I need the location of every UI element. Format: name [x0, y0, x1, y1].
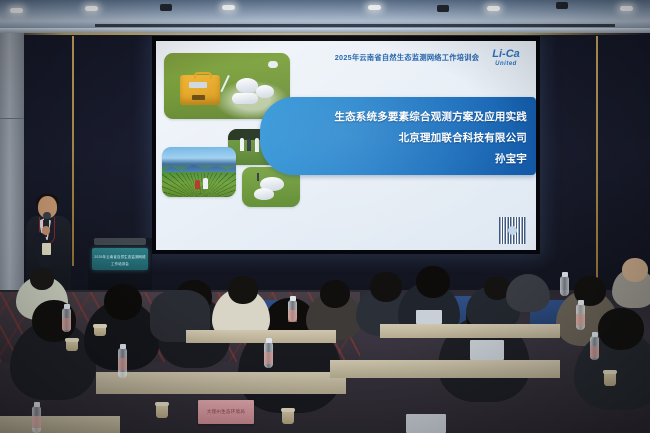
water-bottle	[576, 304, 585, 330]
placard-line-2: 工作培训会	[92, 261, 148, 266]
water-bottle	[288, 300, 297, 322]
audience-person	[506, 274, 550, 312]
laptop	[406, 414, 446, 433]
name-card-text: 大理州生态环境局	[198, 409, 254, 415]
water-bottle	[590, 336, 599, 360]
paper-cup	[156, 404, 168, 418]
bottle-cap	[592, 332, 598, 337]
tripod-leg	[220, 75, 229, 92]
qr-code-icon	[499, 217, 526, 244]
audience-head	[370, 272, 402, 302]
audience-head	[416, 266, 450, 298]
sensor-dome	[236, 78, 258, 93]
bottle-label	[62, 318, 71, 330]
cup-rim	[65, 338, 79, 342]
yellow-case-icon	[180, 75, 220, 105]
sensor-dome	[232, 93, 258, 104]
audience-head	[320, 280, 350, 308]
placard-line-1: 2025年云南省自然生态监测网络	[92, 254, 148, 259]
photo-grassland-with-mountains	[162, 147, 236, 197]
slide-header-title: 2025年云南省自然生态监测网络工作培训会	[304, 53, 510, 63]
audience-head	[228, 276, 258, 304]
sensor-dome	[256, 85, 274, 98]
downlight-icon	[10, 8, 23, 13]
tripod-leg	[268, 61, 278, 68]
laptop	[470, 340, 504, 360]
cup-rim	[93, 324, 107, 328]
water-bottle	[32, 406, 41, 433]
person-figure	[247, 139, 251, 151]
projector-icon	[160, 4, 172, 11]
laptop	[416, 310, 442, 324]
case-latch	[192, 95, 205, 100]
wall-gold-trim-vertical	[596, 36, 598, 294]
banner-line-3: 孙宝宇	[495, 151, 527, 166]
water-bottle	[62, 308, 71, 332]
projector-icon	[437, 5, 449, 12]
conference-table	[380, 324, 560, 338]
bottle-cap	[578, 300, 584, 305]
cup-rim	[155, 402, 169, 406]
projector-icon	[556, 2, 568, 9]
audience-head	[598, 308, 644, 350]
person-figure	[203, 178, 208, 189]
cup-rim	[281, 408, 295, 412]
bottle-label	[32, 416, 41, 428]
water-bottle	[118, 348, 127, 378]
case-handle	[194, 72, 212, 79]
case-label	[189, 82, 207, 88]
bottle-label	[118, 358, 127, 370]
audience-head	[30, 268, 54, 290]
paper-cup	[94, 326, 106, 336]
downlight-icon	[487, 6, 500, 11]
table-name-card: 大理州生态环境局	[198, 400, 254, 424]
presenter-hand	[42, 226, 50, 235]
tripod-leg	[257, 173, 259, 181]
downlight-icon	[620, 6, 633, 11]
podium-placard: 2025年云南省自然生态监测网络 工作培训会	[92, 248, 148, 270]
cup-rim	[603, 370, 617, 374]
paper-cup	[282, 410, 294, 424]
water-bottle	[264, 342, 273, 368]
room-pillar	[0, 33, 24, 301]
bottle-label	[590, 346, 599, 358]
bottle-cap	[64, 304, 70, 309]
company-logo: Li-Ca United	[484, 49, 528, 71]
conference-table	[96, 372, 346, 394]
downlight-icon	[368, 5, 381, 10]
sensor-dome	[254, 188, 274, 200]
bottle-label	[576, 314, 585, 326]
downlight-icon	[222, 5, 235, 10]
bottle-cap	[290, 296, 296, 301]
bottle-cap	[34, 402, 40, 407]
banner-line-1: 生态系统多要素综合观测方案及应用实践	[334, 109, 527, 124]
presenter-badge	[42, 243, 51, 255]
wall-gold-trim-top	[0, 33, 650, 35]
conference-room-photo: 2025年云南省自然生态监测网络工作培训会 Li-Ca United 生态系统多…	[0, 0, 650, 433]
person-figure	[195, 180, 200, 189]
audience-head	[622, 258, 648, 282]
banner-line-2: 北京理加联合科技有限公司	[399, 130, 527, 145]
projection-screen: 2025年云南省自然生态监测网络工作培训会 Li-Ca United 生态系统多…	[156, 41, 536, 250]
logo-line-1: Li-Ca	[484, 49, 528, 59]
paper-cup	[66, 340, 78, 351]
slide-title-banner: 生态系统多要素综合观测方案及应用实践 北京理加联合科技有限公司 孙宝宇	[260, 97, 536, 175]
conference-table	[186, 330, 336, 343]
downlight-icon	[85, 6, 98, 11]
audience-head	[104, 284, 142, 320]
conference-table	[0, 416, 120, 433]
mountain-range	[162, 163, 236, 172]
water-bottle	[560, 276, 569, 296]
bottle-cap	[120, 344, 126, 349]
person-figure	[240, 138, 244, 151]
pillar-seam	[0, 118, 24, 119]
bottle-label	[264, 352, 273, 364]
person-figure	[255, 138, 259, 152]
podium-top	[94, 238, 146, 245]
bottle-cap	[266, 338, 272, 343]
bottle-cap	[562, 272, 568, 277]
microphone-head	[43, 212, 51, 219]
conference-table	[330, 360, 560, 378]
paper-cup	[604, 372, 616, 386]
qr-center	[508, 226, 517, 235]
bottle-label	[288, 310, 297, 322]
logo-line-2: United	[484, 59, 528, 69]
ceiling-rail	[95, 24, 615, 27]
